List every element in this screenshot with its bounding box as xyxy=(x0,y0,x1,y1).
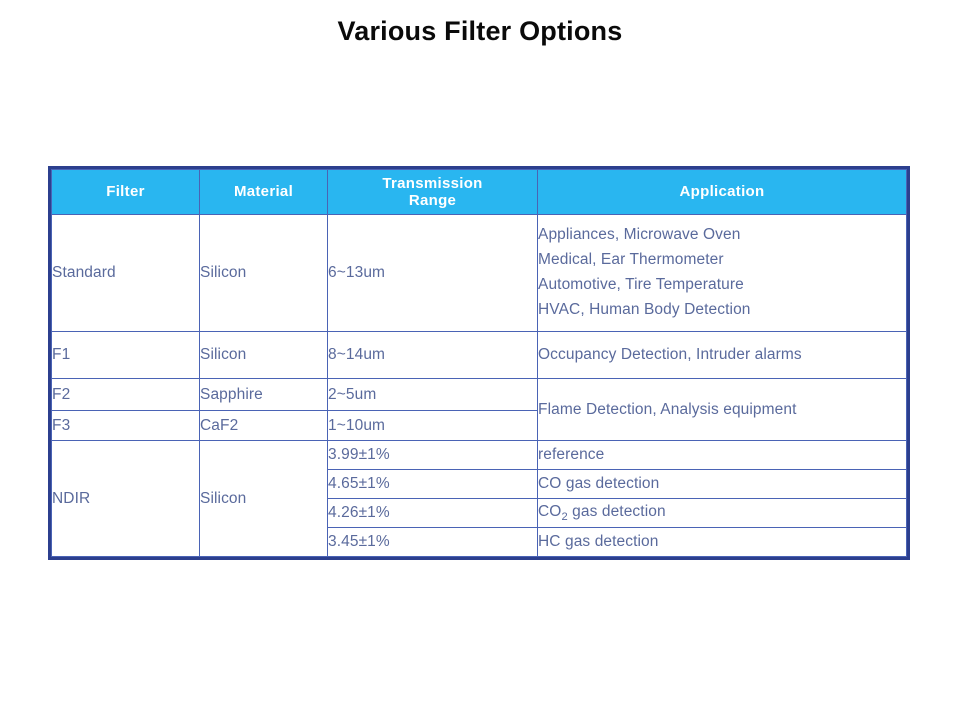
cell-range-standard: 6~13um xyxy=(328,215,538,332)
cell-range-ndir-4: 3.45±1% xyxy=(328,528,538,557)
cell-filter-f1: F1 xyxy=(52,332,200,379)
table-grid: Filter Material Transmission Range Appli… xyxy=(51,169,907,557)
application-co2-suffix: gas detection xyxy=(568,503,666,520)
cell-application-ndir-1: reference xyxy=(538,441,907,470)
cell-filter-f2: F2 xyxy=(52,379,200,411)
cell-application-ndir-3: CO2 gas detection xyxy=(538,499,907,528)
cell-filter-standard: Standard xyxy=(52,215,200,332)
table-row: F1 Silicon 8~14um Occupancy Detection, I… xyxy=(52,332,907,379)
cell-range-ndir-3: 4.26±1% xyxy=(328,499,538,528)
cell-filter-f3: F3 xyxy=(52,411,200,441)
cell-application-ndir-2: CO gas detection xyxy=(538,470,907,499)
cell-range-f2: 2~5um xyxy=(328,379,538,411)
application-line: Appliances, Microwave Oven xyxy=(538,225,906,246)
cell-range-ndir-1: 3.99±1% xyxy=(328,441,538,470)
table-row: Standard Silicon 6~13um Appliances, Micr… xyxy=(52,215,907,332)
column-header-application: Application xyxy=(538,170,907,215)
column-header-transmission-range-line2: Range xyxy=(409,192,456,209)
cell-material-f2: Sapphire xyxy=(200,379,328,411)
application-line: HVAC, Human Body Detection xyxy=(538,300,906,321)
table-body: Standard Silicon 6~13um Appliances, Micr… xyxy=(52,215,907,557)
application-co2-prefix: CO xyxy=(538,503,561,520)
header-row: Filter Material Transmission Range Appli… xyxy=(52,170,907,215)
cell-filter-ndir: NDIR xyxy=(52,441,200,557)
cell-range-f1: 8~14um xyxy=(328,332,538,379)
page-title: Various Filter Options xyxy=(0,16,960,47)
cell-material-f1: Silicon xyxy=(200,332,328,379)
application-list: Appliances, Microwave Oven Medical, Ear … xyxy=(538,215,906,331)
table-row: NDIR Silicon 3.99±1% reference xyxy=(52,441,907,470)
application-line: Medical, Ear Thermometer xyxy=(538,250,906,271)
cell-material-ndir: Silicon xyxy=(200,441,328,557)
cell-application-standard: Appliances, Microwave Oven Medical, Ear … xyxy=(538,215,907,332)
table-row: F2 Sapphire 2~5um Flame Detection, Analy… xyxy=(52,379,907,411)
cell-material-standard: Silicon xyxy=(200,215,328,332)
column-header-material: Material xyxy=(200,170,328,215)
column-header-transmission-range-line1: Transmission xyxy=(382,175,482,192)
column-header-filter: Filter xyxy=(52,170,200,215)
cell-application-f1: Occupancy Detection, Intruder alarms xyxy=(538,332,907,379)
filter-options-table: Filter Material Transmission Range Appli… xyxy=(48,166,910,560)
table-header: Filter Material Transmission Range Appli… xyxy=(52,170,907,215)
column-header-transmission-range: Transmission Range xyxy=(328,170,538,215)
cell-range-ndir-2: 4.65±1% xyxy=(328,470,538,499)
cell-range-f3: 1~10um xyxy=(328,411,538,441)
application-line: Automotive, Tire Temperature xyxy=(538,275,906,296)
cell-application-ndir-4: HC gas detection xyxy=(538,528,907,557)
cell-application-f2-f3: Flame Detection, Analysis equipment xyxy=(538,379,907,441)
cell-material-f3: CaF2 xyxy=(200,411,328,441)
